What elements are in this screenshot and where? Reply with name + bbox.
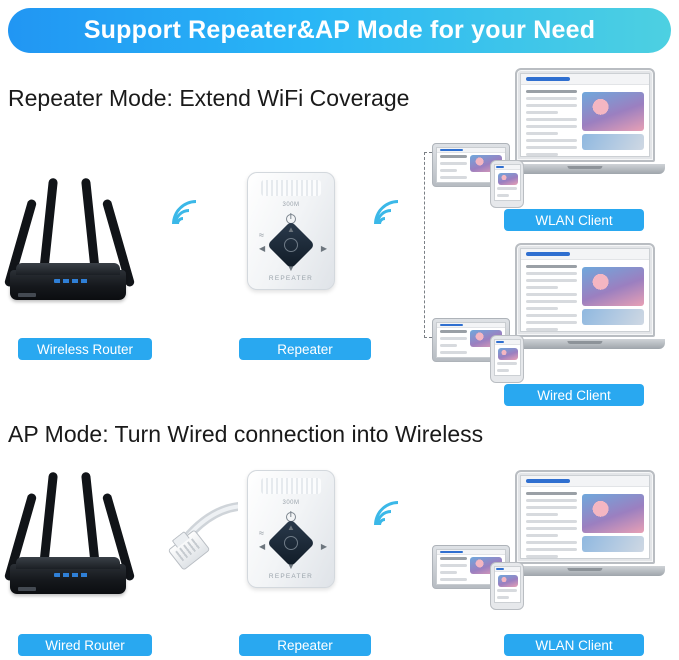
section-title-repeater-mode: Repeater Mode: Extend WiFi Coverage [8,85,409,112]
router-brand-mark [18,293,36,297]
repeater-device-2: 300M ≈ ▲ ▼ ◀ ▶ REPEATER [247,470,335,588]
phone-frame [490,335,524,383]
wifi-waves-router-to-repeater [176,190,236,260]
browser-toolbar [495,567,520,572]
arrow-down-icon: ▼ [287,562,295,571]
phone-screen [494,339,521,376]
label-wired-router: Wired Router [18,634,152,656]
wired-router-illustration [10,466,136,594]
laptop-base [505,566,665,576]
arrow-left-icon: ◀ [259,542,265,551]
page-image [498,348,518,360]
laptop-lid [515,470,655,564]
phone-frame [490,562,524,610]
router-antenna-3 [81,472,100,568]
label-repeater-1: Repeater [239,338,371,360]
browser-toolbar [521,249,649,260]
page-text-column [497,589,518,600]
label-wlan-client-bottom: WLAN Client [504,634,644,656]
page-text-column [526,90,577,151]
laptop-screen [520,73,650,157]
repeater-model-text: REPEATER [247,275,335,282]
repeater-model-text: REPEATER [247,573,335,580]
page-image [498,575,518,587]
ap-wlan-client-phone [490,562,524,610]
router-led-strip [54,573,90,577]
browser-toolbar [521,476,649,487]
laptop-screen [520,475,650,559]
label-wlan-client-top: WLAN Client [504,209,644,231]
page-text-column [497,362,518,373]
label-wired-client: Wired Client [504,384,644,406]
laptop-screen [520,248,650,332]
label-repeater-2: Repeater [239,634,371,656]
arrow-up-icon: ▲ [287,225,295,234]
page-image-secondary [582,309,643,325]
browser-page [495,340,520,375]
repeater-vent [261,180,321,196]
page-image [498,173,518,185]
wired-client-phone [490,335,524,383]
browser-toolbar [437,323,505,328]
laptop-base [505,339,665,349]
page-text-column [440,557,467,582]
phone-screen [494,566,521,603]
router-antenna-3 [81,178,100,274]
page-text-column [440,155,467,180]
repeater-brand-text: 300M [247,500,335,506]
browser-page [495,567,520,602]
page-image [582,494,643,533]
laptop-lid [515,68,655,162]
phone-frame [490,160,524,208]
banner-title: Support Repeater&AP Mode for your Need [84,16,595,45]
repeater-vent [261,478,321,494]
repeater-device-1: 300M ≈ ▲ ▼ ◀ ▶ REPEATER [247,172,335,290]
wireless-router-illustration [10,172,136,300]
repeater-brand-text: 300M [247,202,335,208]
section-title-ap-mode: AP Mode: Turn Wired connection into Wire… [8,421,483,448]
wlan-client-laptop [505,68,665,180]
laptop-lid [515,243,655,337]
browser-toolbar [521,74,649,85]
router-body [10,270,126,300]
page-text-column [526,265,577,326]
arrow-up-icon: ▲ [287,523,295,532]
connector-vertical-repeater [424,152,425,338]
laptop-base [505,164,665,174]
wlan-client-phone [490,160,524,208]
router-antenna-2 [39,472,58,568]
arrow-down-icon: ▼ [287,264,295,273]
page-text-column [526,492,577,553]
browser-toolbar [495,340,520,345]
arrow-left-icon: ◀ [259,244,265,253]
page-image [582,92,643,131]
browser-toolbar [437,148,505,153]
page-image [582,267,643,306]
page-image-secondary [582,536,643,552]
router-antenna-2 [39,178,58,274]
browser-page [521,476,649,558]
phone-screen [494,164,521,201]
browser-page [521,249,649,331]
router-led-strip [54,279,90,283]
arrow-right-icon: ▶ [321,244,327,253]
arrow-right-icon: ▶ [321,542,327,551]
browser-toolbar [495,165,520,170]
router-brand-mark [18,587,36,591]
ap-wlan-client-laptop [505,470,665,582]
wired-client-laptop [505,243,665,355]
wifi-waves-repeater-to-clients [378,190,438,260]
page-image-secondary [582,134,643,150]
page-text-column [440,330,467,355]
browser-page [495,165,520,200]
router-body [10,564,126,594]
header-banner: Support Repeater&AP Mode for your Need [8,8,671,53]
label-wireless-router: Wireless Router [18,338,152,360]
wifi-signal-icon: ≈ [259,230,264,240]
page-text-column [497,187,518,198]
browser-page [521,74,649,156]
wifi-signal-icon: ≈ [259,528,264,538]
browser-toolbar [437,550,505,555]
